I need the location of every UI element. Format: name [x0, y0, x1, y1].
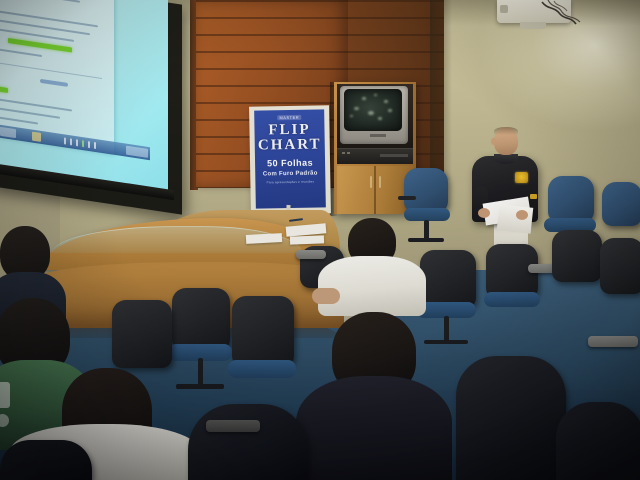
tv-reflection: [374, 94, 377, 96]
tv-reflection: [368, 111, 374, 115]
tv-brand-label: [370, 134, 386, 137]
tray-icon[interactable]: [76, 139, 78, 146]
cabinet-door-divider: [374, 166, 376, 214]
cabinet-handle[interactable]: [370, 176, 372, 188]
audience-arm: [312, 288, 340, 304]
poster-subtitle: Com Furo Padrão: [263, 171, 318, 178]
taskbar-window-button[interactable]: [0, 127, 16, 138]
tray-icon[interactable]: [70, 138, 72, 145]
chair-armrest: [398, 196, 416, 200]
tv-reflection: [362, 97, 366, 100]
cabinet-handle[interactable]: [379, 176, 381, 188]
paper-sheet: [246, 233, 282, 244]
chair-foreground: [456, 356, 566, 480]
tray-icon[interactable]: [88, 141, 90, 148]
tv-reflection: [354, 107, 359, 110]
chair: [172, 288, 230, 350]
shirt-print: [0, 382, 10, 408]
tv-screen: [344, 89, 402, 131]
taskbar-window-button[interactable]: [32, 132, 41, 142]
chair-backrest: [552, 230, 602, 282]
chair: [548, 176, 594, 222]
presenter-sleeve-logo: [530, 194, 537, 199]
chair-backrest: [420, 250, 476, 308]
tray-icon[interactable]: [94, 142, 96, 149]
flip-chart-poster: MASTER FLIP CHART 50 Folhas Com Furo Pad…: [254, 109, 326, 208]
audience-body: [318, 256, 426, 316]
conference-room-photo: MASTER FLIP CHART 50 Folhas Com Furo Pad…: [0, 0, 640, 480]
presenter-papers: [497, 204, 534, 233]
chair: [112, 300, 172, 368]
poster-brand-label: MASTER: [277, 115, 301, 120]
presenter-hairline: [494, 127, 518, 135]
tray-icon[interactable]: [64, 137, 66, 144]
presenter-collar: [494, 154, 518, 164]
presenter-shirt-logo: [515, 172, 528, 183]
chair: [602, 182, 640, 226]
chair-base: [408, 238, 444, 242]
vcr-tape-slot[interactable]: [380, 154, 408, 157]
chair-tablet-arm: [206, 420, 260, 432]
audience-body: [296, 376, 452, 480]
chair: [552, 230, 602, 282]
taskbar-clock[interactable]: [126, 146, 148, 158]
chair-post: [424, 220, 429, 240]
chair-seat: [484, 292, 540, 307]
chair-base: [424, 340, 468, 344]
chair-backrest: [112, 300, 172, 368]
chair-base: [176, 384, 224, 389]
chair-backrest: [602, 182, 640, 226]
presenter-hand: [478, 208, 490, 218]
chair-foreground: [0, 440, 92, 480]
chair: [600, 238, 640, 294]
tv-reflection: [378, 117, 382, 120]
tv-reflection: [384, 100, 388, 103]
projector-lens-icon: [500, 5, 508, 13]
tv-reflection: [388, 109, 392, 112]
projector-cables: [540, 0, 584, 26]
chair-backrest: [404, 168, 448, 212]
paper-sheet: [290, 235, 324, 244]
chair-backrest: [456, 356, 566, 480]
wall-corner-shadow: [430, 0, 452, 180]
chair-seat: [228, 360, 296, 378]
chair-tablet-arm: [588, 336, 638, 347]
chair-backrest: [556, 402, 640, 480]
chair-backrest: [600, 238, 640, 294]
poster-fine-print: Para apresentações e reuniões: [267, 180, 315, 185]
chair-backrest: [188, 404, 308, 480]
chair-post: [198, 358, 203, 386]
tv-reflection: [350, 115, 353, 117]
chair: [232, 296, 294, 366]
chair-foreground: [556, 402, 640, 480]
poster-title-line2: CHART: [258, 137, 322, 153]
presenter-hand: [516, 210, 528, 220]
vcr-led-icon: [342, 152, 345, 154]
chair: [404, 168, 448, 212]
poster-quantity-number: 50: [267, 158, 278, 168]
chair: [420, 250, 476, 308]
chair-tablet-arm: [296, 250, 326, 259]
poster-quantity: 50 Folhas: [267, 158, 313, 169]
tray-icon[interactable]: [82, 140, 84, 147]
chair-backrest: [548, 176, 594, 222]
projection-screen: [0, 0, 168, 192]
chair-backrest: [0, 440, 92, 480]
chair-foreground: [188, 404, 308, 480]
presenter-ear: [491, 138, 496, 145]
chair-post: [444, 316, 449, 342]
chair-backrest: [232, 296, 294, 366]
poster-quantity-unit: Folhas: [281, 158, 313, 169]
vcr-led-icon: [347, 152, 350, 154]
chair-backrest: [172, 288, 230, 350]
